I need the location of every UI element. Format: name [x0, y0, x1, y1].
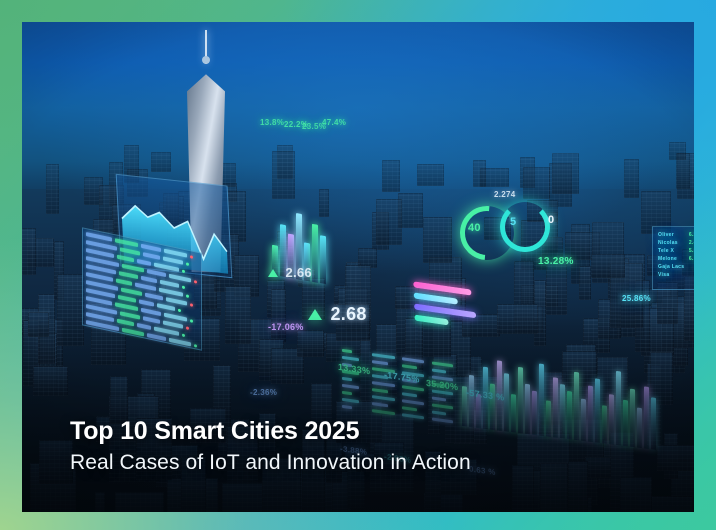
article-hero-card: 40 5 0 2.274 Oliver6.24243 Nicolas2.4342…: [0, 0, 716, 530]
building: [624, 159, 639, 198]
building: [272, 151, 294, 199]
building: [151, 152, 170, 173]
building: [641, 191, 670, 234]
bottom-gradient-scrim: [22, 316, 694, 512]
building: [546, 262, 567, 315]
one-world-trade-center: [187, 57, 225, 272]
building: [319, 189, 330, 217]
page-subtitle: Real Cases of IoT and Innovation in Acti…: [70, 450, 471, 476]
building: [682, 249, 694, 275]
building: [113, 239, 127, 285]
building: [417, 164, 444, 186]
building: [46, 164, 59, 214]
building: [591, 254, 624, 278]
building: [163, 193, 178, 225]
building: [484, 217, 511, 239]
building: [523, 167, 550, 199]
building: [376, 199, 402, 245]
building: [277, 231, 288, 250]
building: [579, 266, 591, 299]
building: [527, 200, 559, 221]
building: [22, 228, 36, 276]
building: [552, 153, 579, 194]
building: [669, 142, 686, 160]
building: [542, 237, 564, 262]
tower-spire-ball: [202, 56, 210, 64]
caption-block: Top 10 Smart Cities 2025 Real Cases of I…: [70, 417, 471, 476]
page-title: Top 10 Smart Cities 2025: [70, 417, 471, 445]
hero-photo: 40 5 0 2.274 Oliver6.24243 Nicolas2.4342…: [22, 22, 694, 512]
building: [395, 286, 419, 309]
building: [112, 204, 142, 243]
building: [124, 145, 138, 183]
building: [423, 217, 452, 263]
building: [473, 160, 486, 187]
building: [93, 219, 114, 272]
building: [145, 270, 157, 314]
building: [274, 246, 293, 276]
building: [302, 278, 325, 320]
building: [382, 160, 400, 192]
building: [647, 255, 662, 276]
